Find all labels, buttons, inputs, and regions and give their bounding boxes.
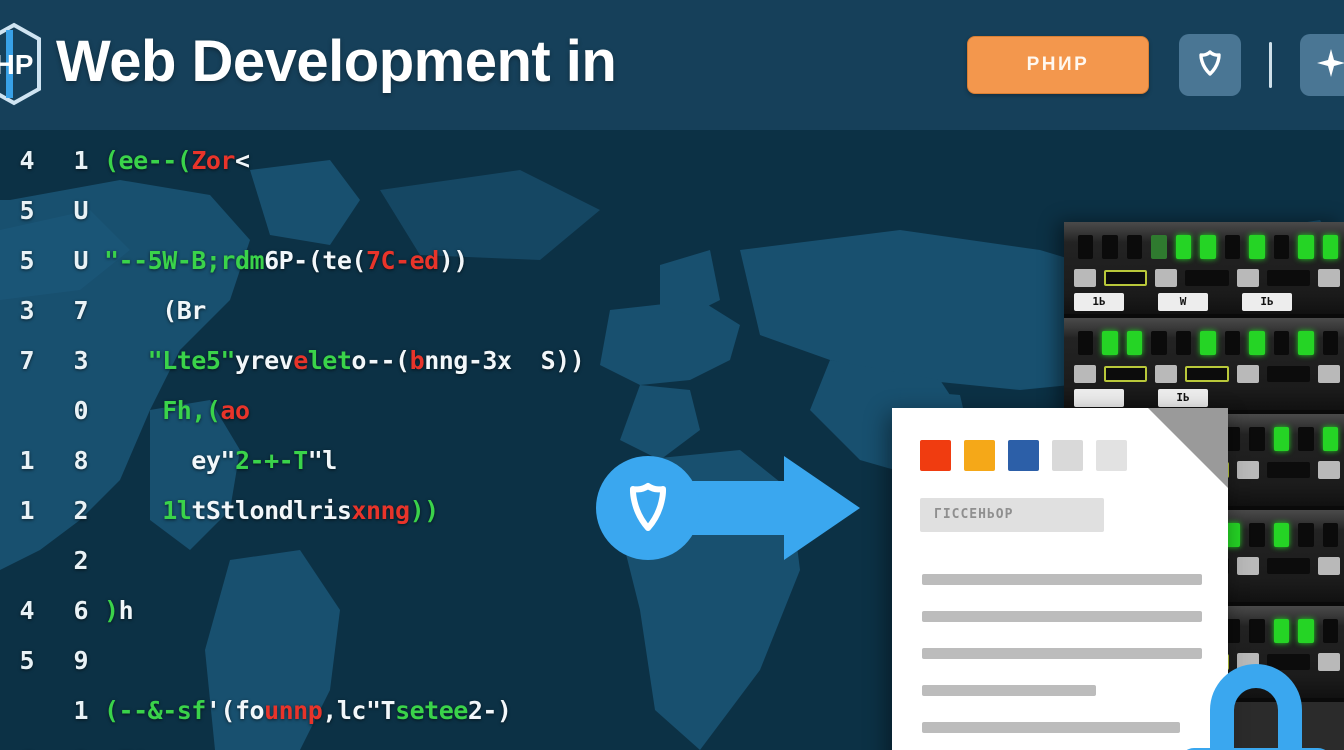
document-field[interactable]: ГICCEHЬOP xyxy=(920,498,1104,532)
code-token: tStlondlris xyxy=(191,496,351,525)
gutter-number: 4 xyxy=(0,136,34,186)
sparkle-button[interactable] xyxy=(1300,34,1344,96)
code-token: "--5W-B;rdm xyxy=(104,246,264,275)
code-token: < xyxy=(235,146,250,175)
document-text-lines xyxy=(922,574,1202,750)
code-token: b xyxy=(410,346,425,375)
rack-vents xyxy=(1078,234,1338,260)
rack-label: 1Ь xyxy=(1074,293,1124,311)
code-token: (Br xyxy=(104,296,206,325)
gutter-number: 0 xyxy=(56,736,88,750)
code-token: o--( xyxy=(351,346,409,375)
header-actions: PHИP xyxy=(967,0,1344,130)
code-token: yrev xyxy=(235,346,293,375)
color-swatch-row xyxy=(920,440,1127,471)
gutter-number: 1 xyxy=(0,436,34,486)
code-token: "Lte5" xyxy=(104,346,235,375)
code-line xyxy=(104,636,704,686)
code-line: (--&-sf'(founnp,lc"Tsetee2-) xyxy=(104,686,704,736)
rack-labels: IЬ xyxy=(1074,388,1340,408)
gutter-number: 8 xyxy=(56,436,88,486)
code-line: I' xyxy=(104,736,704,750)
gutter-number: 0 xyxy=(56,386,88,436)
svg-text:HP: HP xyxy=(0,49,33,80)
gutter-number: 5 xyxy=(0,236,34,286)
gutter-number: 2 xyxy=(56,536,88,586)
code-token: nng-3x S)) xyxy=(424,346,584,375)
gutter-number: 6 xyxy=(56,586,88,636)
app-header: HP Web Development in PHИP xyxy=(0,0,1344,130)
gutter-number: 7 xyxy=(56,286,88,336)
gutter-number: 1 xyxy=(56,136,88,186)
gutter-number: 3 xyxy=(56,336,88,386)
rack-vents xyxy=(1078,330,1338,356)
hero-stage: 45537114560500307 1UU730822691066280440 … xyxy=(0,130,1344,750)
code-token: Fh,( xyxy=(104,396,220,425)
document-text-line xyxy=(922,648,1202,659)
padlock-icon xyxy=(1166,644,1344,750)
gutter-number: 7 xyxy=(0,336,34,386)
rack-label: IЬ xyxy=(1158,389,1208,407)
gutter-number: 1 xyxy=(0,486,34,536)
rack-unit: IЬ xyxy=(1064,318,1344,414)
code-token: ' xyxy=(133,746,148,750)
shield-icon xyxy=(1195,48,1225,83)
code-line: (ee--(Zor< xyxy=(104,136,704,186)
gutter-number xyxy=(0,536,34,586)
code-token: ) xyxy=(104,596,119,625)
gutter-number: 9 xyxy=(56,636,88,686)
code-token: )) xyxy=(410,496,439,525)
shield-button[interactable] xyxy=(1179,34,1241,96)
code-line: (Br xyxy=(104,286,704,336)
page-title: Web Development in xyxy=(56,28,616,95)
code-token: setee xyxy=(395,696,468,725)
code-token: h xyxy=(119,596,134,625)
code-gutter-primary: 45537114560500307 xyxy=(0,136,34,750)
code-token: "l xyxy=(308,446,337,475)
code-token: )) xyxy=(439,246,468,275)
color-swatch[interactable] xyxy=(1096,440,1127,471)
gutter-number: 2 xyxy=(56,486,88,536)
code-token: 2-+-T xyxy=(235,446,308,475)
code-token: ao xyxy=(220,396,249,425)
document-text-line xyxy=(922,685,1096,696)
rack-label xyxy=(1074,389,1124,407)
gutter-number: 4 xyxy=(0,586,34,636)
code-token: (ee--( xyxy=(104,146,191,175)
php-shield-logo-icon: HP xyxy=(0,22,44,106)
code-token: xnng xyxy=(351,496,409,525)
code-gutter-secondary: 1UU730822691066280440 xyxy=(56,136,88,750)
code-token: unnp xyxy=(264,696,322,725)
rack-unit: 1Ь W IЬ xyxy=(1064,222,1344,318)
code-token: ,lc"T xyxy=(322,696,395,725)
code-token: let xyxy=(308,346,352,375)
code-line: )h xyxy=(104,586,704,636)
gutter-number: U xyxy=(56,236,88,286)
color-swatch[interactable] xyxy=(920,440,951,471)
document-text-line xyxy=(922,722,1180,733)
code-line: Fh,(ao xyxy=(104,386,704,436)
document-text-line xyxy=(922,611,1202,622)
php-button[interactable]: PHИP xyxy=(967,36,1149,94)
code-token: 6P-(te( xyxy=(264,246,366,275)
rack-bay-row xyxy=(1074,268,1340,288)
rack-label: IЬ xyxy=(1242,293,1292,311)
code-token: e xyxy=(293,346,308,375)
code-token: I xyxy=(104,746,133,750)
gutter-number: 6 xyxy=(0,736,34,750)
color-swatch[interactable] xyxy=(1052,440,1083,471)
flow-arrow xyxy=(588,448,868,568)
sparkle-icon xyxy=(1315,47,1344,84)
code-token: 7C-ed xyxy=(366,246,439,275)
gutter-number: 3 xyxy=(0,286,34,336)
rack-label: W xyxy=(1158,293,1208,311)
code-editor: 45537114560500307 1UU730822691066280440 … xyxy=(0,130,700,750)
gutter-number: 5 xyxy=(0,186,34,236)
code-token: (--&-sf xyxy=(104,696,206,725)
gutter-number xyxy=(0,386,34,436)
code-line: "Lte5"yreveleto--(bnng-3x S)) xyxy=(104,336,704,386)
rack-bay-row xyxy=(1074,364,1340,384)
code-line: "--5W-B;rdm6P-(te(7C-ed)) xyxy=(104,236,704,286)
code-line xyxy=(104,186,704,236)
gutter-number xyxy=(0,686,34,736)
code-token: Zor xyxy=(191,146,235,175)
color-swatch[interactable] xyxy=(1008,440,1039,471)
gutter-number: U xyxy=(56,186,88,236)
page-fold-corner xyxy=(1148,408,1228,488)
gutter-number: 1 xyxy=(56,686,88,736)
color-swatch[interactable] xyxy=(964,440,995,471)
code-token: ey" xyxy=(104,446,235,475)
header-divider xyxy=(1269,42,1272,88)
document-text-line xyxy=(922,574,1202,585)
code-token: '(fo xyxy=(206,696,264,725)
rack-labels: 1Ь W IЬ xyxy=(1074,292,1340,312)
gutter-number: 5 xyxy=(0,636,34,686)
code-token: 2-) xyxy=(468,696,512,725)
code-token: 1l xyxy=(104,496,191,525)
code-content: (ee--(Zor<"--5W-B;rdm6P-(te(7C-ed)) (Br … xyxy=(104,136,704,750)
